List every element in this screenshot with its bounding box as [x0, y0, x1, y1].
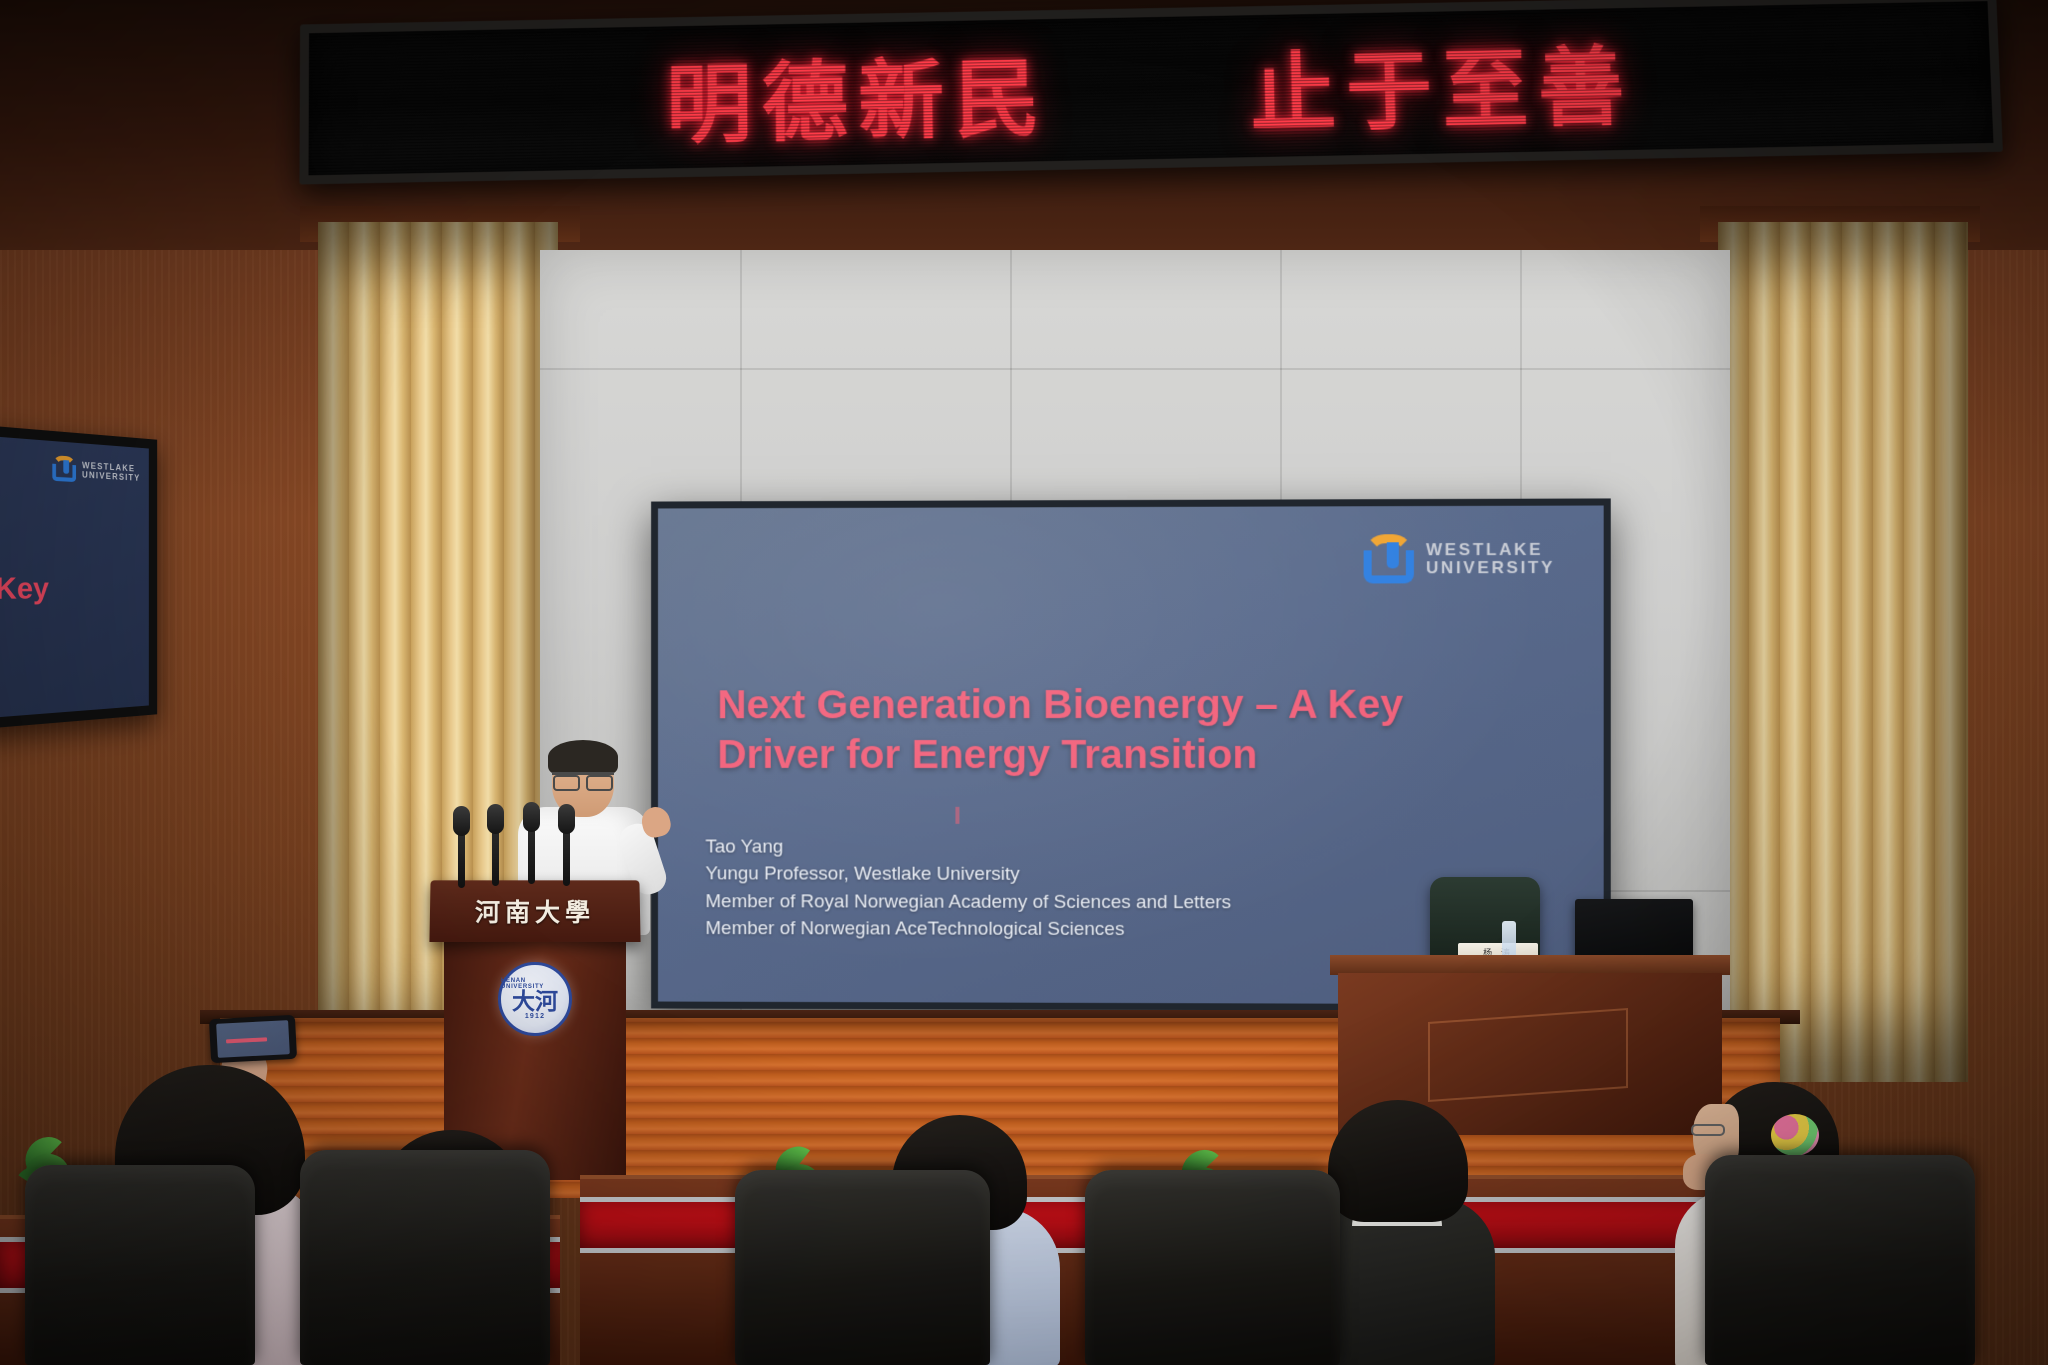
microphone — [492, 828, 499, 886]
led-phrase-gap — [1091, 124, 1211, 126]
westlake-w-icon — [51, 455, 77, 483]
emblem-characters: 大河 — [512, 990, 558, 1013]
logo-w-shape — [1364, 550, 1414, 583]
side-monitor-title-fragment: – A Key — [0, 572, 49, 608]
audience-chair — [300, 1150, 550, 1365]
floral-hair-scrunchie — [1771, 1114, 1819, 1156]
slide-author-block: Tao Yang Yungu Professor, Westlake Unive… — [705, 834, 1231, 944]
microphone — [563, 828, 570, 886]
wall-seam — [540, 368, 1730, 370]
westlake-wordmark: WESTLAKE UNIVERSITY — [1426, 540, 1555, 577]
podium-header-panel: 河南大學 — [429, 880, 640, 942]
stage-curtain-right — [1718, 222, 1968, 1082]
moderator-desk-top — [1330, 955, 1730, 975]
laptop — [1575, 899, 1693, 961]
speaker-glasses-icon — [552, 772, 614, 784]
led-banner-text: 明德新民 止于至善 — [666, 16, 1636, 159]
brand-line-2: UNIVERSITY — [1426, 559, 1555, 578]
audience-hair — [1328, 1100, 1468, 1222]
microphone — [528, 826, 535, 884]
audience-chair — [1705, 1155, 1975, 1365]
speaker-hair — [548, 740, 618, 774]
logo-w-shape — [52, 463, 76, 482]
audience-chair — [25, 1165, 255, 1365]
side-monitor: WESTLAKE UNIVERSITY – A Key — [0, 423, 157, 730]
audience-chair — [735, 1170, 990, 1365]
microphone — [458, 830, 465, 888]
brand-line-1: WESTLAKE — [1426, 540, 1555, 559]
glasses-icon — [1691, 1124, 1725, 1136]
phone-screen — [216, 1020, 290, 1058]
side-monitor-screen: WESTLAKE UNIVERSITY – A Key — [0, 435, 149, 719]
podium-university-label: 河南大學 — [475, 893, 595, 929]
led-phrase-left: 明德新民 — [666, 48, 1051, 156]
emblem-founding-year: 1912 — [525, 1013, 545, 1020]
westlake-university-logo: WESTLAKE UNIVERSITY — [1362, 534, 1556, 585]
lecture-hall-photo: 明德新民 止于至善 WESTLAKE UNIVERSITY Next Gen — [0, 0, 2048, 1365]
side-monitor-wordmark: WESTLAKE UNIVERSITY — [82, 461, 140, 483]
brand-line-2: UNIVERSITY — [82, 470, 140, 483]
led-phrase-right: 止于至善 — [1249, 36, 1636, 144]
audience-chair — [1085, 1170, 1340, 1365]
slide-title: Next Generation Bioenergy – A Key Driver… — [717, 679, 1403, 779]
side-monitor-logo: WESTLAKE UNIVERSITY — [51, 455, 140, 486]
slide-text-caret — [955, 807, 959, 824]
westlake-w-icon — [1362, 534, 1416, 584]
audience-front-row — [0, 1080, 2048, 1365]
smartphone — [209, 1015, 297, 1063]
henan-university-emblem: HENAN UNIVERSITY 大河 1912 — [498, 962, 572, 1036]
